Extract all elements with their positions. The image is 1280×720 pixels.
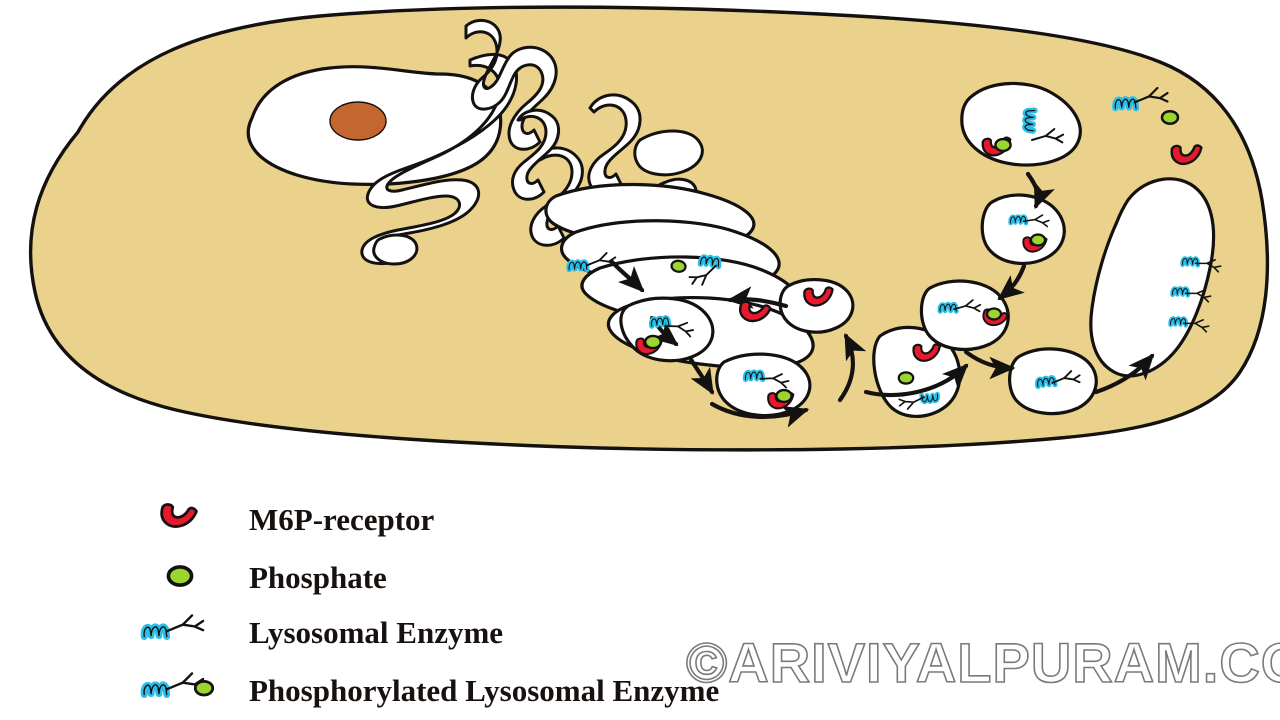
molecule-phosphate-endocytic: [1031, 235, 1045, 246]
legend-row-lysosomal-enzyme: Lysosomal Enzyme: [144, 615, 503, 650]
legend-label-lysosomal-enzyme: Lysosomal Enzyme: [249, 615, 503, 650]
legend-row-phosphorylated-lysosomal-enzyme: Phosphorylated Lysosomal Enzyme: [144, 673, 719, 708]
molecule-phosphate-membrane-vesicle: [995, 139, 1010, 151]
legend: M6P-receptor Phosphate Lysosomal Enzyme …: [144, 502, 719, 708]
watermark: ©ARIVIYALPURAM.COM: [686, 631, 1280, 694]
molecule-phosphate-endosome-late: [899, 372, 913, 383]
m6p-receptor-icon: [160, 504, 197, 529]
vesicle-transport-1: [717, 354, 810, 415]
molecule-phosphate-vesicle-1: [776, 390, 791, 402]
legend-row-m6p-receptor: M6P-receptor: [160, 502, 434, 537]
legend-row-phosphate: Phosphate: [168, 560, 386, 595]
legend-label-phosphate: Phosphate: [249, 560, 387, 595]
legend-label-m6p-receptor: M6P-receptor: [249, 502, 435, 537]
figure-canvas: M6P-receptor Phosphate Lysosomal Enzyme …: [0, 0, 1280, 720]
nucleolus: [330, 102, 386, 140]
lysosomal-enzyme-icon: [144, 615, 203, 636]
molecule-phosphate-endosome-sorting: [987, 309, 1001, 320]
cell-biology-diagram: M6P-receptor Phosphate Lysosomal Enzyme …: [0, 0, 1280, 720]
phosphate-icon: [168, 567, 191, 585]
molecule-enzyme-membrane-vesicle: [1025, 110, 1035, 131]
legend-label-phosphorylated-lysosomal-enzyme: Phosphorylated Lysosomal Enzyme: [249, 673, 719, 708]
molecule-phosphate-golgi-bud: [645, 336, 661, 348]
phosphorylated-lysosomal-enzyme-icon: [144, 673, 213, 695]
endocytic-vesicle: [982, 195, 1064, 263]
